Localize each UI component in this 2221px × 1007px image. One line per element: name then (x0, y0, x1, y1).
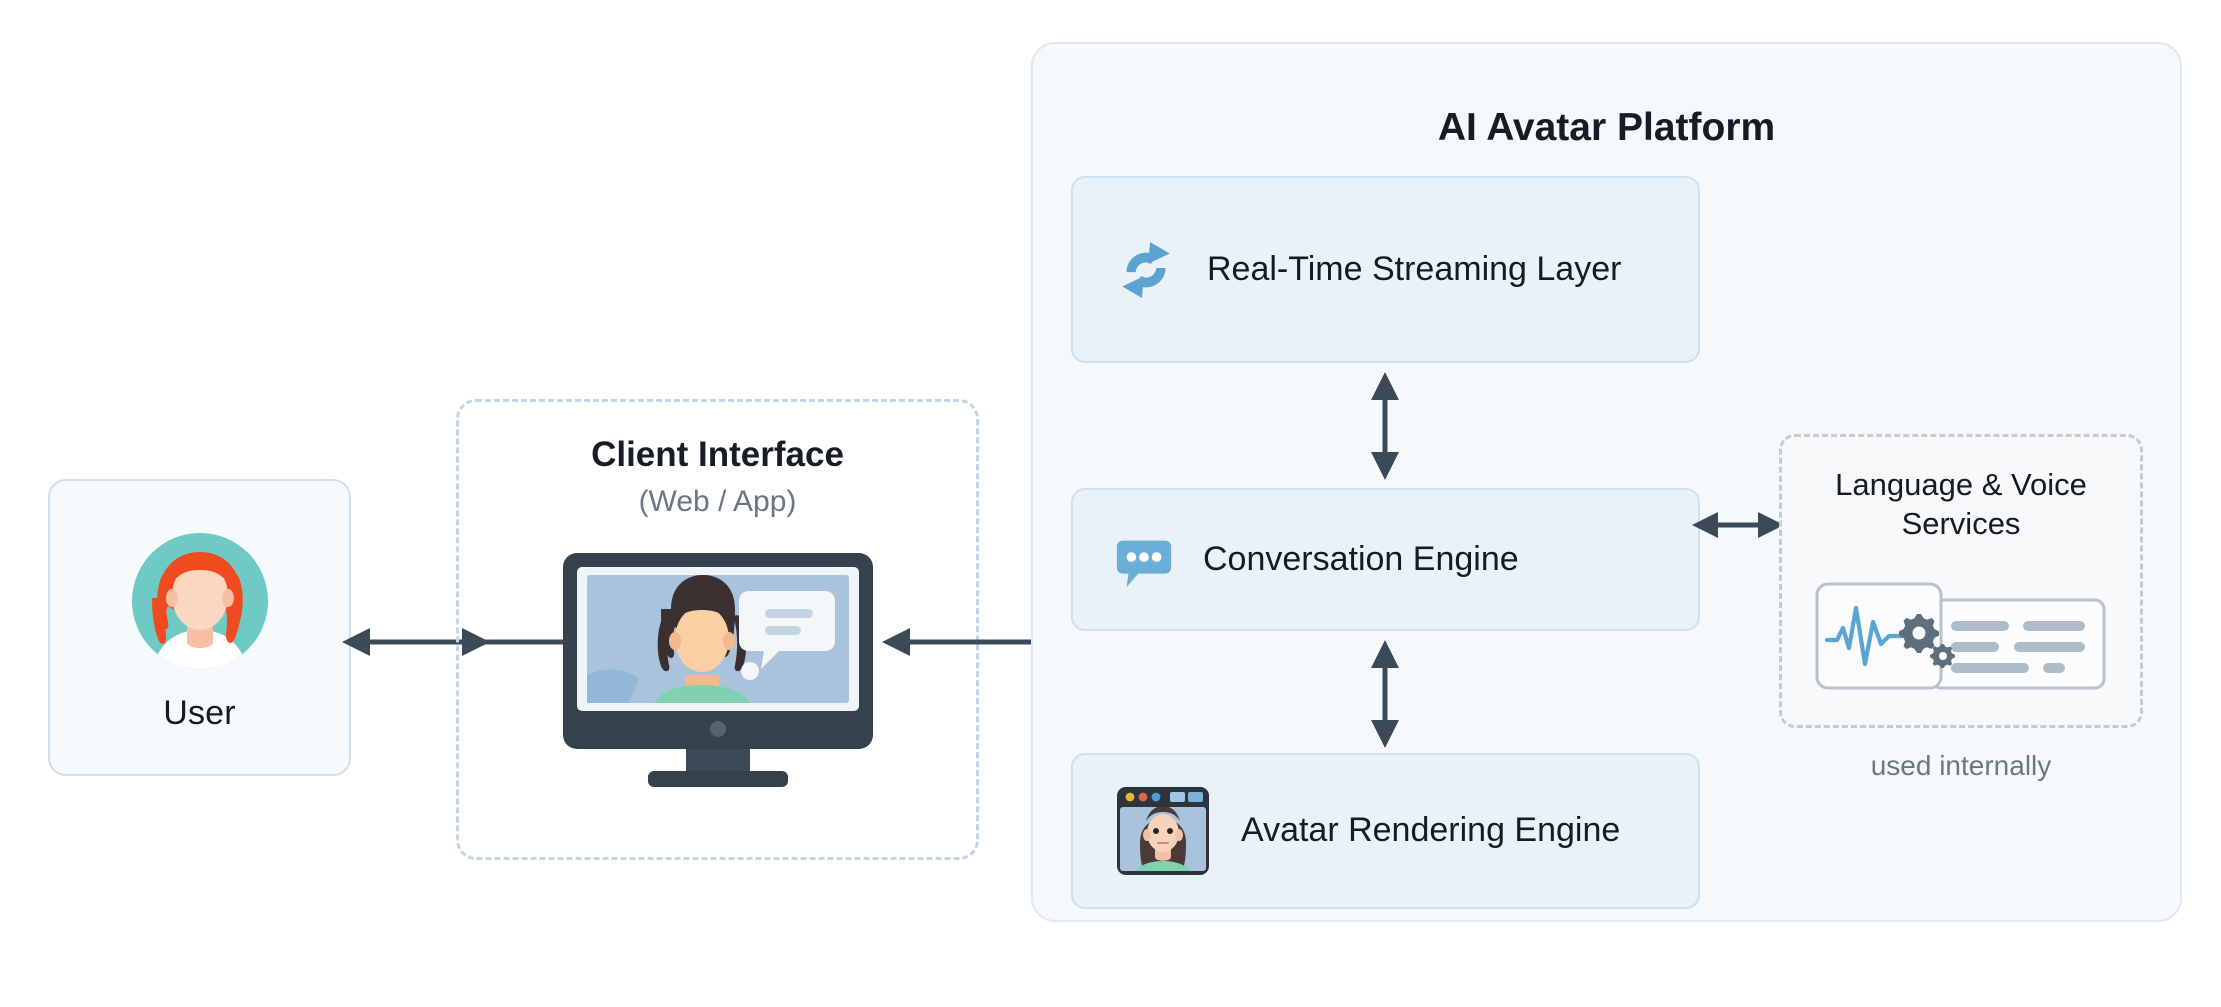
module-conversation-engine[interactable]: Conversation Engine (1071, 488, 1700, 631)
desktop-monitor-avatar-icon (553, 547, 883, 797)
module-label: Conversation Engine (1203, 539, 1519, 580)
chat-bubble-dots-icon (1113, 529, 1175, 591)
connector-streaming-to-conversation (1355, 370, 1415, 482)
voice-services-caption: used internally (1779, 750, 2143, 782)
language-voice-services-title: Language & Voice Services (1782, 465, 2140, 543)
connector-conversation-to-avatar (1355, 638, 1415, 750)
waveform-gears-document-icon (1811, 578, 2111, 703)
language-voice-services-group[interactable]: Language & Voice Services (1779, 434, 2143, 728)
platform-title: AI Avatar Platform (1033, 106, 2180, 150)
client-interface-title: Client Interface (459, 435, 976, 475)
module-real-time-streaming-layer[interactable]: Real-Time Streaming Layer (1071, 176, 1700, 363)
connector-conversation-to-voice-services (1690, 495, 1786, 555)
browser-window-avatar-icon (1113, 781, 1213, 881)
client-interface-subtitle: (Web / App) (459, 485, 976, 519)
user-avatar-icon (125, 526, 275, 676)
sync-arrows-icon (1113, 237, 1179, 303)
diagram-canvas: User Client Interface (Web / App) (0, 0, 2221, 1007)
module-avatar-rendering-engine[interactable]: Avatar Rendering Engine (1071, 753, 1700, 909)
module-label: Avatar Rendering Engine (1241, 810, 1620, 851)
module-label: Real-Time Streaming Layer (1207, 249, 1621, 290)
user-card-label: User (163, 694, 236, 733)
user-card[interactable]: User (48, 479, 351, 776)
